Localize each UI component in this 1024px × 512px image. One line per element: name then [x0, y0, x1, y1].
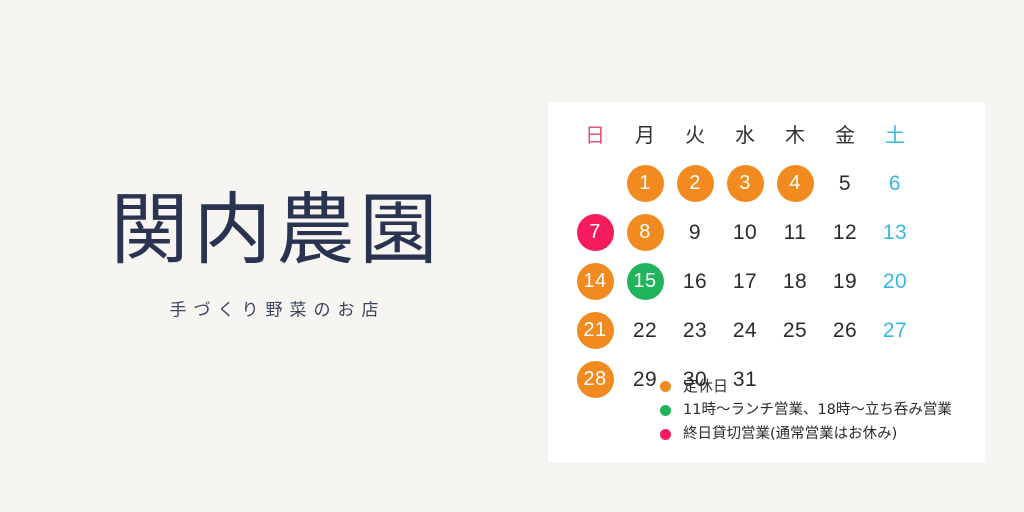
calendar-day-cell[interactable]: 15 — [620, 257, 670, 306]
calendar-week-row: 78910111213 — [570, 208, 936, 257]
day-number: 14 — [577, 263, 614, 300]
calendar-day-cell[interactable]: 25 — [770, 306, 820, 355]
shop-logo-title: 関内農園 — [105, 192, 442, 270]
weekday-label-0: 日 — [585, 125, 605, 145]
day-number: 18 — [783, 271, 807, 292]
day-number: 15 — [627, 263, 664, 300]
calendar-day-cell[interactable]: 3 — [720, 159, 770, 208]
day-number: 17 — [733, 271, 757, 292]
calendar-day-cell[interactable]: 23 — [670, 306, 720, 355]
calendar-day-cell[interactable]: 27 — [870, 306, 920, 355]
calendar-day-cell[interactable]: 8 — [620, 208, 670, 257]
calendar-day-cell[interactable]: 10 — [720, 208, 770, 257]
weekday-cell: 金 — [820, 110, 870, 159]
calendar-day-cell[interactable]: 13 — [870, 208, 920, 257]
day-number: 21 — [577, 312, 614, 349]
weekday-cell: 土 — [870, 110, 920, 159]
calendar-day-cell[interactable]: 12 — [820, 208, 870, 257]
day-number: 28 — [577, 361, 614, 398]
calendar-day-cell[interactable]: 18 — [770, 257, 820, 306]
calendar-day-cell[interactable]: 17 — [720, 257, 770, 306]
calendar-card: 日月火水木金土 12345678910111213141516171819202… — [548, 102, 985, 462]
legend-dot-green-icon — [660, 405, 671, 416]
calendar-week-row: 123456 — [570, 159, 936, 208]
day-number: 4 — [777, 165, 814, 202]
calendar-day-cell[interactable]: 9 — [670, 208, 720, 257]
calendar-day-cell[interactable]: 2 — [670, 159, 720, 208]
day-number: 1 — [627, 165, 664, 202]
calendar-day-cell[interactable]: 16 — [670, 257, 720, 306]
day-number: 7 — [577, 214, 614, 251]
calendar-day-cell[interactable]: 7 — [570, 208, 620, 257]
legend-dot-pink-icon — [660, 429, 671, 440]
day-number: 19 — [833, 271, 857, 292]
brand-inner: 関内農園 手づくり野菜のお店 — [105, 192, 442, 321]
calendar-day-cell[interactable]: 1 — [620, 159, 670, 208]
calendar-legend: 定休日11時〜ランチ営業、18時〜立ち呑み営業終日貸切営業(通常営業はお休み) — [660, 374, 980, 446]
calendar-day-cell[interactable]: 28 — [570, 355, 620, 404]
day-number: 13 — [883, 222, 907, 243]
calendar-day-cell[interactable]: 5 — [820, 159, 870, 208]
weekday-label-3: 水 — [735, 125, 755, 145]
day-number: 9 — [689, 222, 701, 243]
weekday-cell: 火 — [670, 110, 720, 159]
day-number: 26 — [833, 320, 857, 341]
weekday-cell: 日 — [570, 110, 620, 159]
calendar-empty-cell — [570, 159, 620, 208]
legend-label: 終日貸切営業(通常営業はお休み) — [683, 427, 897, 442]
day-number: 12 — [833, 222, 857, 243]
calendar-day-cell[interactable]: 21 — [570, 306, 620, 355]
calendar-weekday-header: 日月火水木金土 — [570, 110, 936, 159]
calendar-day-cell[interactable]: 24 — [720, 306, 770, 355]
weekday-label-2: 火 — [685, 125, 705, 145]
legend-label: 定休日 — [683, 379, 728, 394]
calendar-day-cell[interactable]: 11 — [770, 208, 820, 257]
calendar-week-row: 21222324252627 — [570, 306, 936, 355]
legend-dot-orange-icon — [660, 381, 671, 392]
day-number: 29 — [633, 369, 657, 390]
day-number: 20 — [883, 271, 907, 292]
weekday-cell: 木 — [770, 110, 820, 159]
day-number: 6 — [889, 173, 901, 194]
shop-tagline: 手づくり野菜のお店 — [105, 296, 442, 321]
calendar-day-cell[interactable]: 26 — [820, 306, 870, 355]
legend-row: 11時〜ランチ営業、18時〜立ち呑み営業 — [660, 398, 980, 422]
day-number: 22 — [633, 320, 657, 341]
day-number: 5 — [839, 173, 851, 194]
legend-label: 11時〜ランチ営業、18時〜立ち呑み営業 — [683, 403, 952, 418]
calendar-day-cell[interactable]: 22 — [620, 306, 670, 355]
weekday-cell: 水 — [720, 110, 770, 159]
day-number: 24 — [733, 320, 757, 341]
day-number: 10 — [733, 222, 757, 243]
day-number: 2 — [677, 165, 714, 202]
weekday-cell: 月 — [620, 110, 670, 159]
calendar-day-cell[interactable]: 19 — [820, 257, 870, 306]
day-number: 11 — [784, 222, 807, 243]
calendar-grid: 日月火水木金土 12345678910111213141516171819202… — [570, 110, 936, 404]
calendar-day-cell[interactable]: 4 — [770, 159, 820, 208]
day-number: 16 — [683, 271, 707, 292]
day-number: 27 — [883, 320, 907, 341]
day-number: 3 — [727, 165, 764, 202]
calendar-day-cell[interactable]: 6 — [870, 159, 920, 208]
weekday-label-5: 金 — [835, 125, 855, 145]
day-number: 8 — [627, 214, 664, 251]
calendar-day-cell[interactable]: 20 — [870, 257, 920, 306]
weekday-label-1: 月 — [635, 125, 655, 145]
weekday-label-4: 木 — [785, 125, 805, 145]
calendar-date-rows: 1234567891011121314151617181920212223242… — [570, 159, 936, 404]
brand-block: 関内農園 手づくり野菜のお店 — [0, 0, 548, 512]
day-number: 23 — [683, 320, 707, 341]
weekday-label-6: 土 — [885, 125, 905, 145]
calendar-day-cell[interactable]: 14 — [570, 257, 620, 306]
calendar-week-row: 14151617181920 — [570, 257, 936, 306]
day-number: 25 — [783, 320, 807, 341]
legend-row: 定休日 — [660, 374, 980, 398]
legend-row: 終日貸切営業(通常営業はお休み) — [660, 422, 980, 446]
